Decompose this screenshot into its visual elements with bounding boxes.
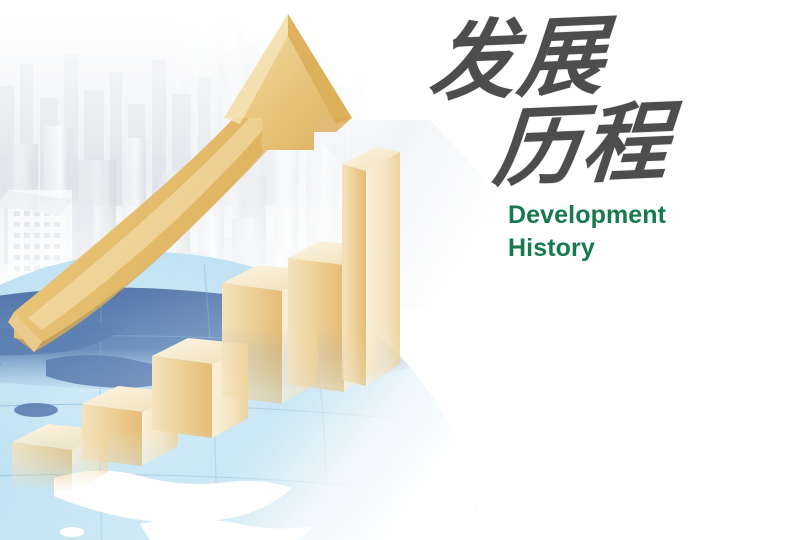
title-block: 发展 历程 Development History: [424, 18, 724, 265]
globe-graphic: [0, 232, 540, 540]
chinese-title-line-1: 发展: [426, 14, 609, 106]
english-title: Development History: [508, 199, 724, 265]
english-title-line-1: Development: [508, 199, 724, 232]
development-history-banner: 发展 历程 Development History: [0, 0, 800, 540]
chinese-title: 发展 历程: [424, 18, 724, 189]
english-title-line-2: History: [508, 232, 724, 265]
chinese-title-line-2: 历程: [490, 100, 673, 192]
